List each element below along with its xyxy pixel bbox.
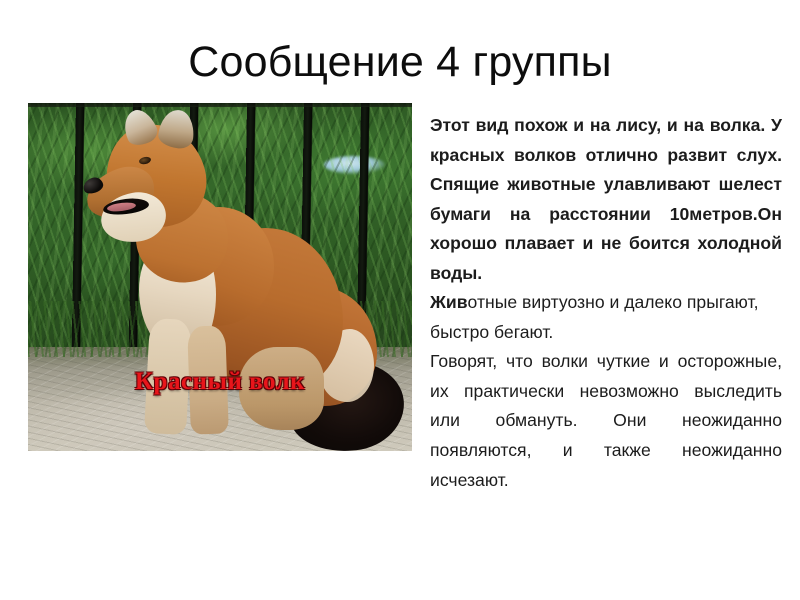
red-wolf-figure xyxy=(28,103,412,451)
paragraph-2: Животные виртуозно и далеко прыгают, быс… xyxy=(430,288,782,347)
body-text-column: Этот вид похож и на лису, и на волка. У … xyxy=(430,111,782,495)
paragraph-3: Говорят, что волки чуткие и осторожные, … xyxy=(430,347,782,495)
paragraph-2-bold-lead: Жив xyxy=(430,292,468,312)
photo-red-wolf xyxy=(28,103,412,451)
wolf-foreleg-back xyxy=(187,325,229,434)
page-title: Сообщение 4 группы xyxy=(0,40,800,85)
photo-canvas xyxy=(28,103,412,451)
presentation-slide: Сообщение 4 группы xyxy=(0,0,800,600)
paragraph-2-rest: отные виртуозно и далеко прыгают, быстро… xyxy=(430,292,758,342)
wolf-hind-leg xyxy=(239,347,323,431)
paragraph-1: Этот вид похож и на лису, и на волка. У … xyxy=(430,111,782,288)
wolf-foreleg-front xyxy=(144,318,192,435)
